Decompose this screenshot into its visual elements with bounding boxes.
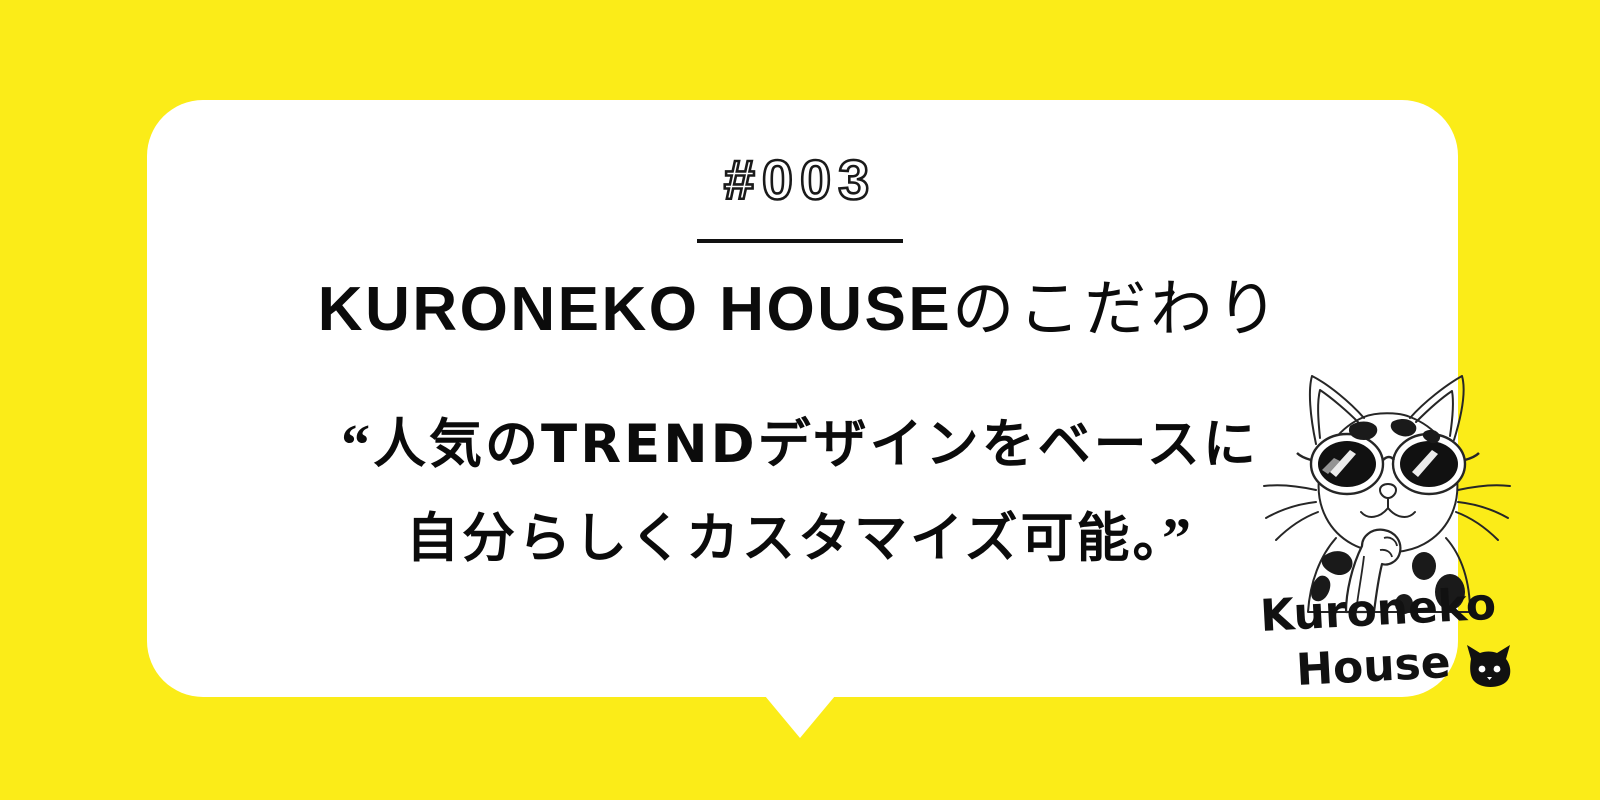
brand-logo-line1-text: Kuroneko [1259,583,1497,642]
quote-open-mark: “ [341,412,373,477]
brand-logo: Kuroneko House [1255,583,1530,703]
quote-line-1-text: 人気のTRENDデザインをベースに [373,414,1259,475]
quote-line-2-text: 自分らしくカスタマイズ可能。 [406,508,1162,569]
poster-canvas: #003 KURONEKO HOUSEのこだわり “人気のTRENDデザインをベ… [0,0,1600,800]
page-title-latin: KURONEKO HOUSE [318,275,952,344]
issue-number: #003 [0,152,1600,208]
quote-close-mark: ” [1162,506,1194,571]
cat-mascot-icon [1258,360,1518,620]
divider-rule [697,239,903,243]
page-title: KURONEKO HOUSEのこだわり [0,278,1600,341]
black-cat-face-icon [1467,645,1510,687]
page-title-japanese: のこだわり [952,272,1282,345]
brand-logo-line2-text: House [1295,637,1452,696]
speech-bubble-tail [760,690,840,738]
